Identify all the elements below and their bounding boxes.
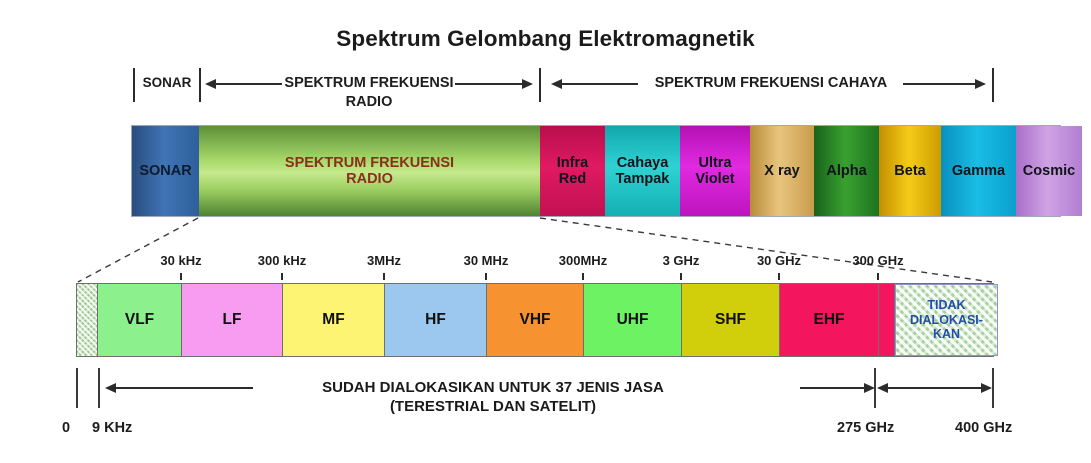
em-segment: X ray (750, 126, 814, 216)
allocated-arrow-left-line (116, 387, 253, 389)
radio-band-bar: VLFLFMFHFVHFUHFSHFEHFTIDAKDIALOKASI-KAN (76, 283, 994, 357)
electromagnetic-spectrum-bar: SONARSPEKTRUM FREKUENSIRADIOInfraRedCaha… (131, 125, 1061, 217)
em-segment-label: SPEKTRUM FREKUENSIRADIO (283, 155, 456, 187)
annotation-divider-right (992, 68, 994, 102)
em-segment: CahayaTampak (605, 126, 680, 216)
radio-band-vhf: VHF (487, 284, 584, 356)
em-segment-label: Alpha (824, 163, 868, 179)
allocated-caption: SUDAH DIALOKASIKAN UNTUK 37 JENIS JASA (… (258, 378, 728, 416)
frequency-tick (180, 273, 182, 280)
unallocated-arrow-line-b (888, 387, 982, 389)
axis-label-end: 400 GHz (955, 420, 1012, 436)
radio-band-label: TIDAKDIALOKASI-KAN (910, 298, 983, 341)
axis-label-zero: 0 (62, 420, 70, 436)
em-segment: Gamma (941, 126, 1016, 216)
frequency-tick-label: 30 GHz (729, 253, 829, 268)
em-segment-label: Cosmic (1021, 163, 1077, 179)
radio-band-label: HF (425, 311, 446, 329)
radio-band-label: VHF (520, 311, 551, 329)
unallocated-arrow-head-b (877, 383, 888, 393)
frequency-tick-label: 300 GHz (828, 253, 928, 268)
frequency-tick (281, 273, 283, 280)
annotation-label-radio-line2: RADIO (283, 94, 455, 112)
radio-band-segment (879, 284, 895, 356)
em-segment-label: InfraRed (555, 155, 590, 187)
em-segment-label: SONAR (137, 163, 193, 179)
em-segment: UltraViolet (680, 126, 750, 216)
em-segment-label: CahayaTampak (614, 155, 672, 187)
radio-band-label: SHF (715, 311, 746, 329)
frequency-tick (680, 273, 682, 280)
page-title: Spektrum Gelombang Elektromagnetik (0, 26, 1091, 52)
unallocated-arrow-line-a (800, 387, 866, 389)
em-segment-label: X ray (762, 163, 801, 179)
radio-band-label: EHF (814, 311, 845, 329)
radio-span-arrow-right-head (522, 79, 533, 89)
radio-band-hf: HF (385, 284, 487, 356)
frequency-tick-label: 300 kHz (232, 253, 332, 268)
radio-band-lf: LF (182, 284, 283, 356)
em-segment: SONAR (132, 126, 199, 216)
radio-band-vlf: VLF (98, 284, 182, 356)
unallocated-arrow-head-c (981, 383, 992, 393)
frequency-tick-label: 3 GHz (631, 253, 731, 268)
annotation-label-radio-line1: SPEKTRUM FREKUENSI (283, 75, 455, 93)
radio-span-arrow-left-head (205, 79, 216, 89)
radio-span-arrow-right-line (455, 83, 522, 85)
diagram-canvas: Spektrum Gelombang Elektromagnetik SONAR… (0, 0, 1091, 463)
axis-rule-zero (76, 368, 78, 408)
axis-rule-9khz (98, 368, 100, 408)
radio-band-mf: MF (283, 284, 385, 356)
unallocated-arrow-head-a (864, 383, 875, 393)
em-segment: Beta (879, 126, 941, 216)
frequency-tick-label: 30 kHz (131, 253, 231, 268)
light-span-arrow-right-line (903, 83, 975, 85)
radio-band-uhf: UHF (584, 284, 682, 356)
em-segment: InfraRed (540, 126, 605, 216)
em-segment-label: Gamma (950, 163, 1007, 179)
em-segment: SPEKTRUM FREKUENSIRADIO (199, 126, 540, 216)
frequency-tick (877, 273, 879, 280)
em-segment-label: Beta (892, 163, 927, 179)
em-segment-label: UltraViolet (693, 155, 736, 187)
frequency-tick (582, 273, 584, 280)
light-span-arrow-left-line (562, 83, 638, 85)
em-segment: Alpha (814, 126, 879, 216)
frequency-tick (383, 273, 385, 280)
annotation-label-light: SPEKTRUM FREKUENSI CAHAYA (640, 75, 902, 93)
radio-span-arrow-left-line (216, 83, 282, 85)
frequency-tick (485, 273, 487, 280)
light-span-arrow-left-head (551, 79, 562, 89)
frequency-tick-label: 30 MHz (436, 253, 536, 268)
frequency-tick-label: 300MHz (533, 253, 633, 268)
allocated-caption-line1: SUDAH DIALOKASIKAN UNTUK 37 JENIS JASA (258, 378, 728, 397)
allocated-arrow-left-head (105, 383, 116, 393)
frequency-tick-label: 3MHz (334, 253, 434, 268)
frequency-tick (778, 273, 780, 280)
light-span-arrow-right-head (975, 79, 986, 89)
radio-band-label: LF (223, 311, 242, 329)
radio-band-tidak: TIDAKDIALOKASI-KAN (895, 284, 998, 356)
allocated-caption-line2: (TERESTRIAL DAN SATELIT) (258, 397, 728, 416)
annotation-divider-radio (539, 68, 541, 102)
axis-label-mid: 275 GHz (837, 420, 894, 436)
radio-band-label: MF (322, 311, 344, 329)
em-segment: Cosmic (1016, 126, 1082, 216)
annotation-divider-sonar (199, 68, 201, 102)
radio-band-segment (77, 284, 98, 356)
annotation-divider-left (133, 68, 135, 102)
annotation-label-sonar: SONAR (136, 75, 198, 91)
radio-band-label: UHF (617, 311, 649, 329)
radio-band-label: VLF (125, 311, 154, 329)
radio-band-ehf: EHF (780, 284, 879, 356)
axis-rule-400ghz (992, 368, 994, 408)
radio-band-shf: SHF (682, 284, 780, 356)
axis-label-start: 9 KHz (92, 420, 132, 436)
